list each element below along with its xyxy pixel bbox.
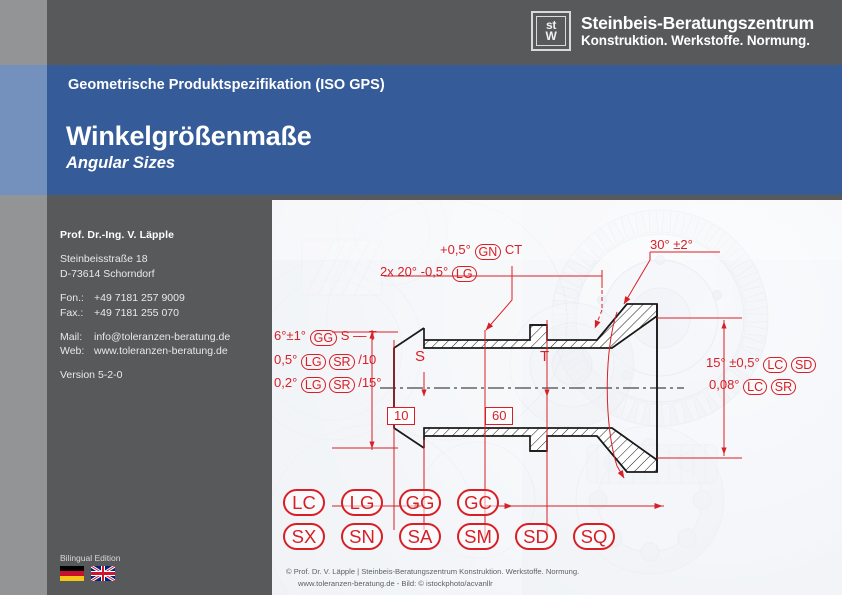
annotation-cone-angle: 30° ±2° xyxy=(650,237,693,252)
slide-page: st W Steinbeis-Beratungszentrum Konstruk… xyxy=(0,0,842,595)
fax-value: +49 7181 255 070 xyxy=(94,306,265,321)
credit-line-1: © Prof. Dr. V. Läpple | Steinbeis-Beratu… xyxy=(286,566,579,578)
page-subtitle: Angular Sizes xyxy=(66,154,175,173)
address-city: D-73614 Schorndorf xyxy=(60,267,265,282)
page-title: Winkelgrößenmaße xyxy=(66,121,312,152)
bilingual-edition-badge: Bilingual Edition xyxy=(60,553,120,581)
version-label: Version 5-2-0 xyxy=(60,368,265,383)
author-name: Prof. Dr.-Ing. V. Läpple xyxy=(60,228,265,243)
brand-name: Steinbeis-Beratungszentrum xyxy=(581,13,814,34)
annotation-top2-value: -0,5° xyxy=(421,264,449,279)
legend-modifier-sm[interactable]: SM xyxy=(457,523,499,550)
brand-tagline: Konstruktion. Werkstoffe. Normung. xyxy=(581,33,814,49)
series-kicker: Geometrische Produktspezifikation (ISO G… xyxy=(68,77,385,93)
modifier-sr-left2: SR xyxy=(329,354,354,370)
phone-value: +49 7181 257 9009 xyxy=(94,291,265,306)
fax-label: Fax.: xyxy=(60,306,94,321)
title-band-accent-strip xyxy=(0,65,47,195)
modifier-sr-right2: SR xyxy=(771,379,796,395)
german-flag-icon xyxy=(60,566,84,581)
annotation-top2-prefix: 2x 20° xyxy=(380,264,417,279)
annotation-left1-value: 6°±1° xyxy=(274,328,306,343)
annotation-left3-suffix: /15° xyxy=(358,375,381,390)
annotation-left2-suffix: /10 xyxy=(358,352,376,367)
annotation-right2-value: 0,08° xyxy=(709,377,740,392)
legend-modifier-gg[interactable]: GG xyxy=(399,489,441,516)
modifier-sr-left3: SR xyxy=(329,377,354,393)
legend-modifier-sa[interactable]: SA xyxy=(399,523,441,550)
annotation-left-2: 0,5° LG SR /10 xyxy=(274,352,376,370)
mail-value[interactable]: info@toleranzen-beratung.de xyxy=(94,330,265,345)
legend-modifier-lg[interactable]: LG xyxy=(341,489,383,516)
annotation-top-tolerance: +0,5° GN CT xyxy=(440,242,522,260)
annotation-top1-value: +0,5° xyxy=(440,242,471,257)
logo-line-2: W xyxy=(545,31,556,42)
modifier-gn: GN xyxy=(475,244,502,260)
modifier-legend: LC LG GG GC SX SN SA SM SD SQ xyxy=(283,489,615,557)
mail-label: Mail: xyxy=(60,330,94,345)
modifier-lg-top: LG xyxy=(452,266,477,282)
annotation-left-1: 6°±1° GG S –– T xyxy=(274,328,377,346)
address-street: Steinbeisstraße 18 xyxy=(60,252,265,267)
phone-label: Fon.: xyxy=(60,291,94,306)
credit-line-2: www.toleranzen-beratung.de - Bild: © ist… xyxy=(298,578,579,590)
brand-lockup: st W Steinbeis-Beratungszentrum Konstruk… xyxy=(531,11,814,51)
footer-credit: © Prof. Dr. V. Läpple | Steinbeis-Beratu… xyxy=(286,566,579,590)
stw-logo-icon: st W xyxy=(531,11,571,51)
modifier-lg-left3: LG xyxy=(301,377,326,393)
modifier-lc-right1: LC xyxy=(763,357,787,373)
contact-block: Prof. Dr.-Ing. V. Läpple Steinbeisstraße… xyxy=(60,228,265,383)
annotation-left3-value: 0,2° xyxy=(274,375,297,390)
dimension-box-10: 10 xyxy=(387,407,415,425)
annotation-left-3: 0,2° LG SR /15° xyxy=(274,375,382,393)
uk-flag-icon xyxy=(91,566,115,581)
modifier-gg: GG xyxy=(310,330,337,346)
annotation-top1-suffix: CT xyxy=(505,242,522,257)
annotation-left1-datum-s: S xyxy=(341,328,350,343)
legend-modifier-sn[interactable]: SN xyxy=(341,523,383,550)
web-label: Web: xyxy=(60,344,94,359)
legend-modifier-gc[interactable]: GC xyxy=(457,489,499,516)
annotation-left2-value: 0,5° xyxy=(274,352,297,367)
annotation-right1-value: 15° ±0,5° xyxy=(706,355,760,370)
modifier-sd-right1: SD xyxy=(791,357,816,373)
annotation-right-2: 0,08° LC SR xyxy=(709,377,796,395)
annotation-top-angle: 2x 20° -0,5° LG xyxy=(380,264,477,282)
web-value[interactable]: www.toleranzen-beratung.de xyxy=(94,344,265,359)
legend-modifier-sx[interactable]: SX xyxy=(283,523,325,550)
modifier-legend-row-1: LC LG GG GC xyxy=(283,489,615,516)
annotation-left1-datum-t: T xyxy=(369,328,377,343)
bilingual-label: Bilingual Edition xyxy=(60,553,120,563)
datum-letter-s: S xyxy=(415,348,425,365)
legend-modifier-sq[interactable]: SQ xyxy=(573,523,615,550)
modifier-legend-row-2: SX SN SA SM SD SQ xyxy=(283,523,615,550)
annotation-right-1: 15° ±0,5° LC SD xyxy=(706,355,816,373)
legend-modifier-sd[interactable]: SD xyxy=(515,523,557,550)
modifier-lc-right2: LC xyxy=(743,379,767,395)
modifier-lg-left2: LG xyxy=(301,354,326,370)
legend-modifier-lc[interactable]: LC xyxy=(283,489,325,516)
datum-letter-t: T xyxy=(540,348,549,365)
dimension-box-60: 60 xyxy=(485,407,513,425)
